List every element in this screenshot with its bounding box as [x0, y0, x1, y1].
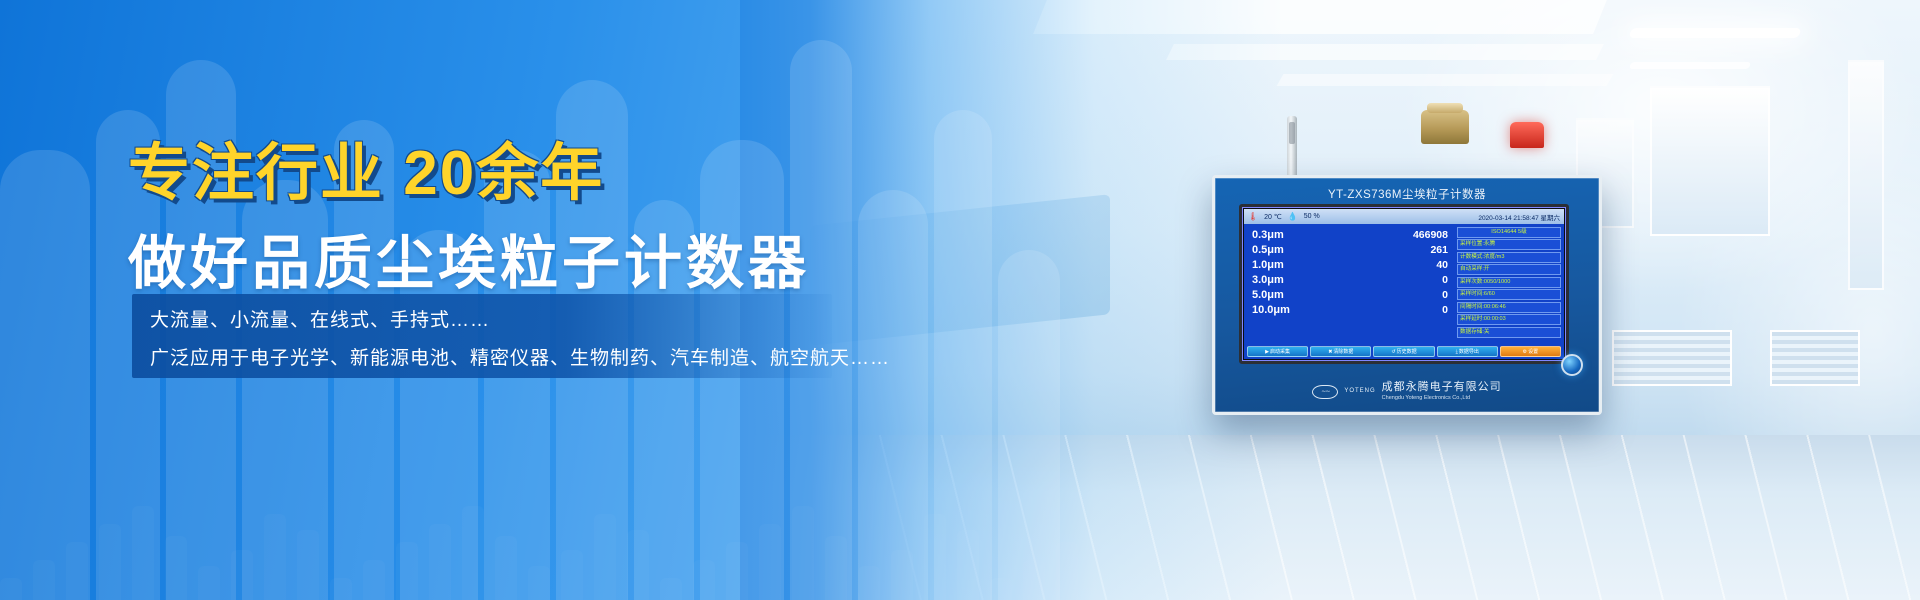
info-row: 采样延时:00:00:03: [1457, 314, 1561, 325]
table-row: 10.0μm0: [1252, 303, 1454, 318]
decorative-bar: [330, 578, 352, 600]
temperature-value: 20 ℃: [1264, 213, 1282, 221]
wall-window: [1650, 86, 1770, 236]
decorative-bar: [1353, 560, 1375, 600]
ceiling-strip: [1033, 0, 1607, 34]
decorative-bar: [429, 524, 451, 600]
screen-button-label: 设置: [1528, 348, 1538, 355]
screen-button-label: 历史数据: [1397, 348, 1417, 355]
table-row: 0.5μm261: [1252, 243, 1454, 258]
decorative-bar: [1485, 536, 1500, 600]
decorative-bar: [1254, 514, 1276, 600]
particle-count: 0: [1442, 275, 1448, 286]
decorative-bar: [660, 578, 682, 600]
brass-connector: [1421, 110, 1469, 144]
thermometer-icon: 🌡: [1248, 212, 1258, 221]
screen-button-4[interactable]: ⤓数据导出: [1437, 346, 1498, 357]
decorative-bar: [792, 506, 814, 600]
decorative-bar: [1221, 550, 1243, 600]
decorative-bar: [561, 550, 583, 600]
table-row: 1.0μm40: [1252, 258, 1454, 273]
info-row: 间隔时间:00:06:46: [1457, 302, 1561, 313]
trash-icon: ✖: [1328, 349, 1332, 355]
particle-size: 3.0μm: [1252, 275, 1284, 286]
decorative-bar: [33, 560, 55, 600]
power-button[interactable]: [1561, 354, 1583, 376]
particle-count: 261: [1430, 245, 1448, 256]
hero-banner: 专注行业 20余年 做好品质尘埃粒子计数器 大流量、小流量、在线式、手持式…… …: [0, 0, 1920, 600]
particle-count: 40: [1436, 260, 1448, 271]
page-subtitle: 做好品质尘埃粒子计数器: [128, 216, 810, 300]
screen-button-label: 数据导出: [1459, 348, 1479, 355]
humidity-value: 50 %: [1304, 213, 1320, 220]
timestamp: 2020-03-14 21:58:47 星期六: [1478, 212, 1560, 222]
table-row: 3.0μm0: [1252, 273, 1454, 288]
gear-icon: ⚙: [1523, 349, 1527, 355]
particle-size: 10.0μm: [1252, 305, 1290, 316]
decorative-bar: [759, 524, 781, 600]
decorative-bar: [363, 560, 385, 600]
screen-button-bar[interactable]: ▶启动采集✖清除数据↺历史数据⤓数据导出⚙设置: [1244, 345, 1564, 359]
decorative-bar: [891, 550, 913, 600]
screen-button-1[interactable]: ▶启动采集: [1247, 346, 1308, 357]
decorative-bar: [825, 536, 847, 600]
ceiling-strip: [1277, 74, 1614, 86]
particle-count: 0: [1442, 290, 1448, 301]
page-title: 专注行业 20余年: [128, 122, 604, 212]
info-row: 采样时间:6/60: [1457, 289, 1561, 300]
decorative-bar: [1056, 542, 1078, 600]
decorative-bar: [1155, 536, 1177, 600]
particle-size: 5.0μm: [1252, 290, 1284, 301]
table-row: 5.0μm0: [1252, 288, 1454, 303]
decorative-bar: [462, 506, 484, 600]
screen-button-2[interactable]: ✖清除数据: [1310, 346, 1371, 357]
decorative-bar: [99, 524, 121, 600]
decorative-bar: [726, 542, 748, 600]
decorative-bar: [528, 566, 550, 600]
decorative-bar: [1386, 542, 1408, 600]
yoteng-mark-icon: ∼∼: [1312, 385, 1338, 399]
sensor-probe: [1287, 116, 1297, 178]
particle-counter-device: YT-ZXS736M尘埃粒子计数器 🌡 20 ℃ 💧 50 % 2020-03-…: [1212, 175, 1602, 415]
info-row: 数据存储:关: [1457, 327, 1561, 338]
wall-window: [1848, 60, 1884, 290]
screen-status-bar: 🌡 20 ℃ 💧 50 % 2020-03-14 21:58:47 星期六: [1244, 209, 1564, 224]
brand-mark-text: YOTENG: [1344, 388, 1375, 396]
tagline-primary: 大流量、小流量、在线式、手持式……: [150, 305, 490, 332]
brand-name-cn: 成都永腾电子有限公司: [1382, 381, 1502, 395]
wall-vent: [1770, 330, 1860, 386]
decorative-bar: [858, 566, 880, 600]
decorative-bar: [1287, 530, 1309, 600]
device-model-label: YT-ZXS736M尘埃粒子计数器: [1215, 186, 1599, 202]
decorative-bar: [627, 530, 649, 600]
water-drop-icon: 💧: [1288, 212, 1298, 221]
decorative-bar: [990, 578, 1012, 600]
particle-count: 0: [1442, 305, 1448, 316]
screen-button-5[interactable]: ⚙设置: [1500, 346, 1561, 357]
decorative-bar: [924, 514, 946, 600]
export-icon: ⤓: [1456, 349, 1458, 355]
particle-size: 0.5μm: [1252, 245, 1284, 256]
history-icon: ↺: [1391, 349, 1395, 355]
info-row: 采样次数:0050/1000: [1457, 277, 1561, 288]
tagline-secondary: 广泛应用于电子光学、新能源电池、精密仪器、生物制药、汽车制造、航空航天……: [150, 343, 890, 370]
decorative-bar: [198, 566, 220, 600]
table-row: 0.3μm466908: [1252, 228, 1454, 243]
ceiling-lamp-icon: [1629, 62, 1751, 69]
decorative-bar: [1023, 560, 1045, 600]
decorative-bar: [0, 578, 22, 600]
device-screen[interactable]: 🌡 20 ℃ 💧 50 % 2020-03-14 21:58:47 星期六 0.…: [1239, 204, 1569, 364]
decorative-bar: [264, 514, 286, 600]
play-icon: ▶: [1265, 349, 1269, 355]
decorative-bar: [495, 536, 517, 600]
info-row: 自动采样:开: [1457, 264, 1561, 275]
ceiling-lamp-icon: [1629, 28, 1802, 38]
particle-size: 1.0μm: [1252, 260, 1284, 271]
decorative-bar: [132, 506, 154, 600]
decorative-bar: [1419, 524, 1441, 600]
decorative-bar: [1188, 566, 1210, 600]
decorative-bar: [396, 542, 418, 600]
decorative-bar: [594, 514, 616, 600]
screen-button-3[interactable]: ↺历史数据: [1373, 346, 1434, 357]
wall-vent: [1612, 330, 1732, 386]
particle-count: 466908: [1413, 230, 1448, 241]
decorative-bottom-bars: [0, 480, 1500, 600]
decorative-bar: [165, 536, 187, 600]
decorative-bar: [297, 530, 319, 600]
decorative-bar: [957, 530, 979, 600]
brand-name-en: Chengdu Yoteng Electronics Co.,Ltd: [1382, 395, 1502, 402]
decorative-bar: [231, 550, 253, 600]
brand-logo: ∼∼ YOTENG 成都永腾电子有限公司 Chengdu Yoteng Elec…: [1215, 381, 1599, 402]
ceiling-strip: [1166, 44, 1604, 60]
decorative-bar: [1089, 524, 1111, 600]
info-row: 计数模式:浓度/m3: [1457, 252, 1561, 263]
measurement-info-panel: ISO14644 5级采样位置:永腾计数模式:浓度/m3自动采样:开采样次数:0…: [1456, 224, 1564, 345]
alarm-beacon-icon: [1510, 122, 1544, 148]
screen-button-label: 启动采集: [1270, 348, 1290, 355]
decorative-bar: [693, 560, 715, 600]
decorative-bar: [1452, 506, 1474, 600]
decorative-bar: [1122, 506, 1144, 600]
info-row: 采样位置:永腾: [1457, 239, 1561, 250]
decorative-bar: [1320, 578, 1342, 600]
particle-readout-table: 0.3μm4669080.5μm2611.0μm403.0μm05.0μm010…: [1244, 224, 1456, 345]
info-row: ISO14644 5级: [1457, 227, 1561, 238]
particle-size: 0.3μm: [1252, 230, 1284, 241]
decorative-bar: [66, 542, 88, 600]
screen-button-label: 清除数据: [1333, 348, 1353, 355]
